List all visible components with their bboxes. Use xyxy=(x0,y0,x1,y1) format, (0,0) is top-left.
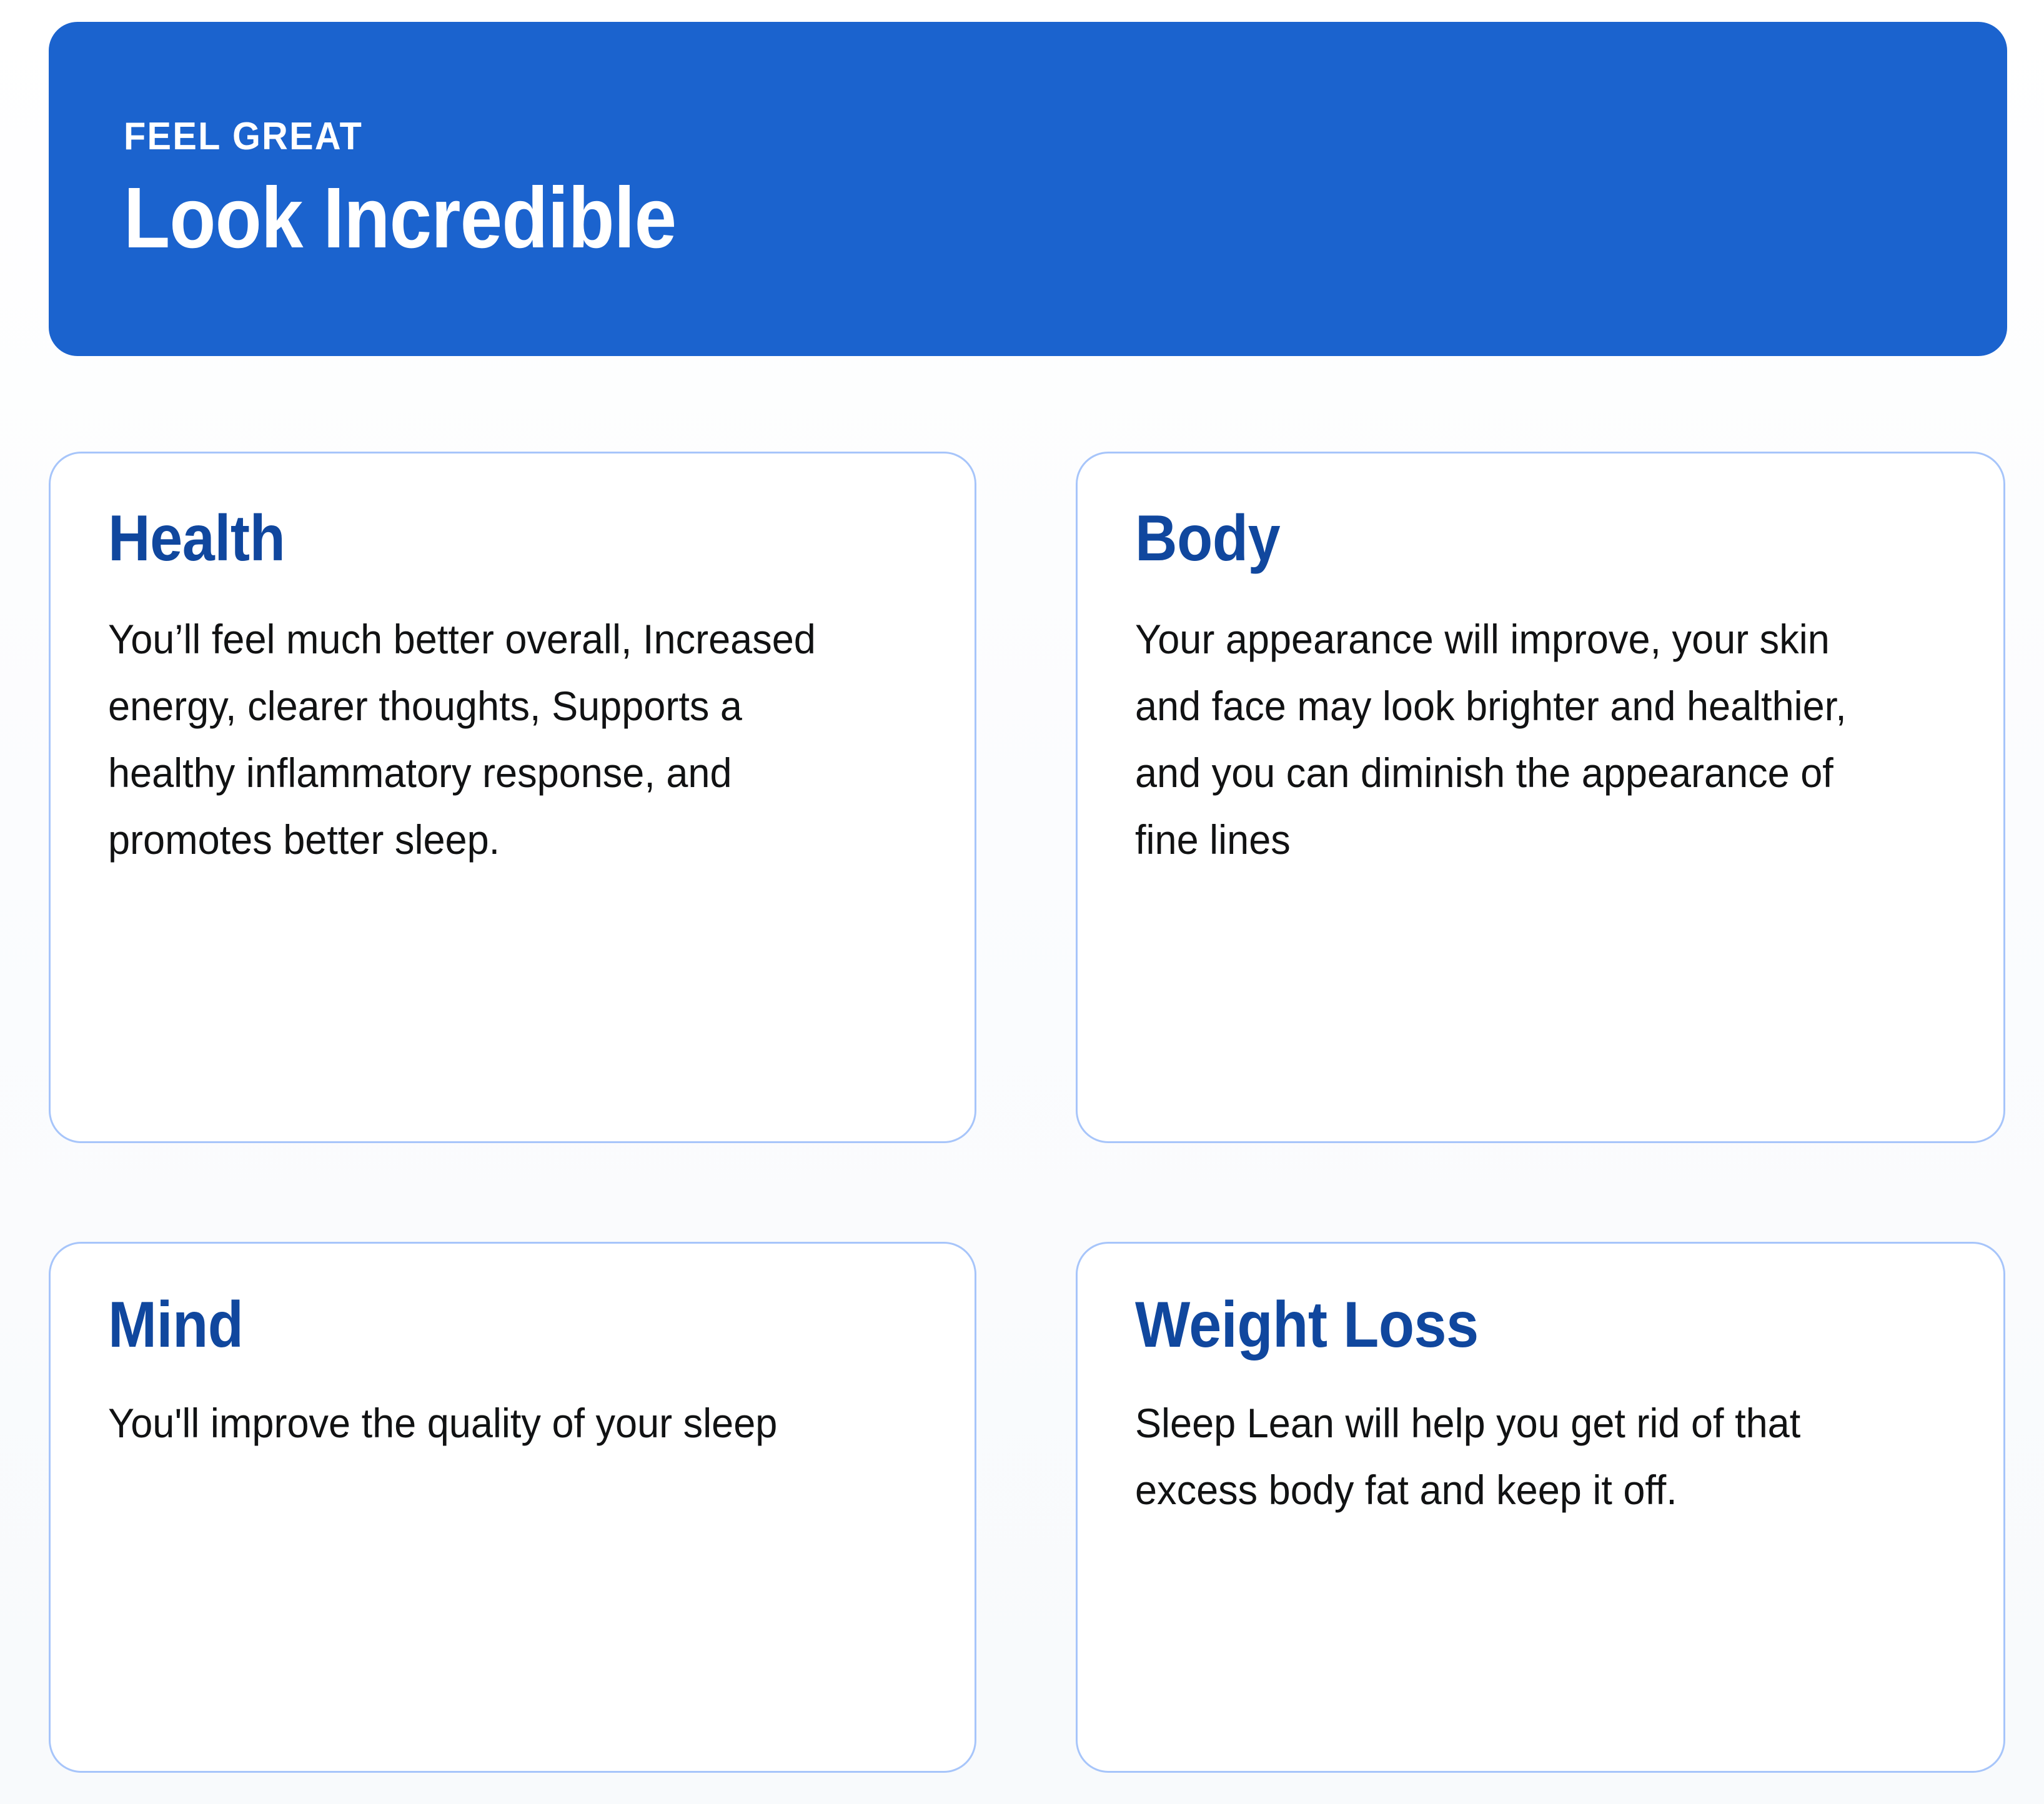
card-heading-weight-loss: Weight Loss xyxy=(1135,1292,1865,1357)
benefits-section: FEEL GREAT Look Incredible Health You’ll… xyxy=(0,0,2044,1804)
card-body-weight-loss: Sleep Lean will help you get rid of that… xyxy=(1135,1390,1869,1524)
card-heading-mind: Mind xyxy=(108,1292,836,1357)
hero-banner: FEEL GREAT Look Incredible xyxy=(49,22,2007,356)
card-body-mind: You'll improve the quality of your sleep xyxy=(108,1390,842,1457)
card-body-health: You’ll feel much better overall, Increas… xyxy=(108,606,842,873)
benefit-card-weight-loss: Weight Loss Sleep Lean will help you get… xyxy=(1076,1242,2005,1773)
hero-eyebrow-text: FEEL GREAT xyxy=(124,117,1875,156)
benefit-card-health: Health You’ll feel much better overall, … xyxy=(49,452,976,1143)
benefit-card-mind: Mind You'll improve the quality of your … xyxy=(49,1242,976,1773)
card-heading-body: Body xyxy=(1135,506,1865,571)
card-heading-health: Health xyxy=(108,506,836,571)
hero-title: Look Incredible xyxy=(124,175,1781,261)
benefit-card-grid: Health You’ll feel much better overall, … xyxy=(49,452,2005,1773)
benefit-card-body: Body Your appearance will improve, your … xyxy=(1076,452,2005,1143)
card-body-body: Your appearance will improve, your skin … xyxy=(1135,606,1869,873)
